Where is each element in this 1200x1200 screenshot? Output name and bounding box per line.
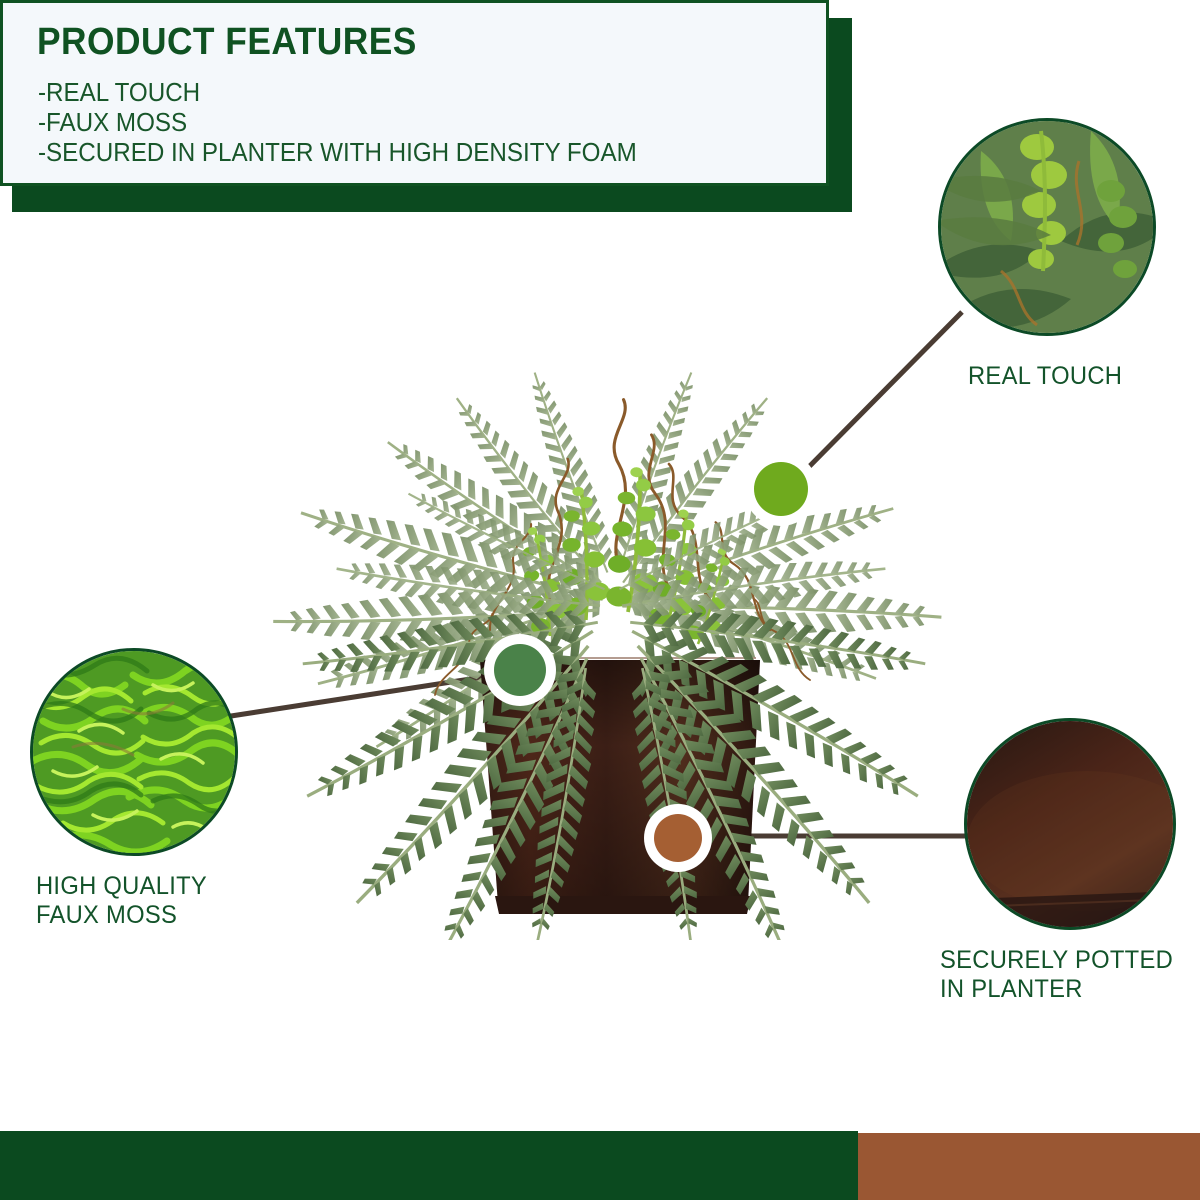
footer-bar-brown (858, 1133, 1200, 1200)
caption-line: REAL TOUCH (968, 362, 1122, 391)
planter-zoom-image (967, 721, 1176, 930)
product-image-fern-planter (150, 300, 1070, 940)
callout-circle-real-touch (938, 118, 1156, 336)
feature-item-3: -SECURED IN PLANTER WITH HIGH DENSITY FO… (38, 137, 637, 167)
marker-dot-faux-moss[interactable] (484, 634, 556, 706)
marker-dot-fill (754, 462, 808, 516)
callout-caption-securely-potted: SECURELY POTTED IN PLANTER (940, 946, 1173, 1004)
caption-line: HIGH QUALITY (36, 872, 207, 901)
page-title: PRODUCT FEATURES (37, 21, 417, 64)
feature-list: -REAL TOUCH -FAUX MOSS -SECURED IN PLANT… (38, 77, 637, 167)
marker-dot-fill (654, 814, 702, 862)
product-features-panel: PRODUCT FEATURES -REAL TOUCH -FAUX MOSS … (0, 0, 860, 215)
footer-bar-green (0, 1131, 858, 1200)
faux-moss-zoom-image (33, 651, 238, 856)
marker-dot-real-touch[interactable] (744, 452, 818, 526)
panel-body: PRODUCT FEATURES -REAL TOUCH -FAUX MOSS … (0, 0, 829, 186)
caption-line: FAUX MOSS (36, 901, 207, 930)
callout-caption-faux-moss: HIGH QUALITY FAUX MOSS (36, 872, 207, 930)
feature-item-1: -REAL TOUCH (38, 77, 637, 107)
callout-circle-faux-moss (30, 648, 238, 856)
callout-circle-securely-potted (964, 718, 1176, 930)
callout-caption-real-touch: REAL TOUCH (968, 362, 1122, 391)
real-touch-zoom-image (941, 121, 1156, 336)
caption-line: SECURELY POTTED (940, 946, 1173, 975)
marker-dot-securely-potted[interactable] (644, 804, 712, 872)
marker-dot-fill (494, 644, 546, 696)
caption-line: IN PLANTER (940, 975, 1173, 1004)
infographic-canvas: PRODUCT FEATURES -REAL TOUCH -FAUX MOSS … (0, 0, 1200, 1200)
feature-item-2: -FAUX MOSS (38, 107, 637, 137)
